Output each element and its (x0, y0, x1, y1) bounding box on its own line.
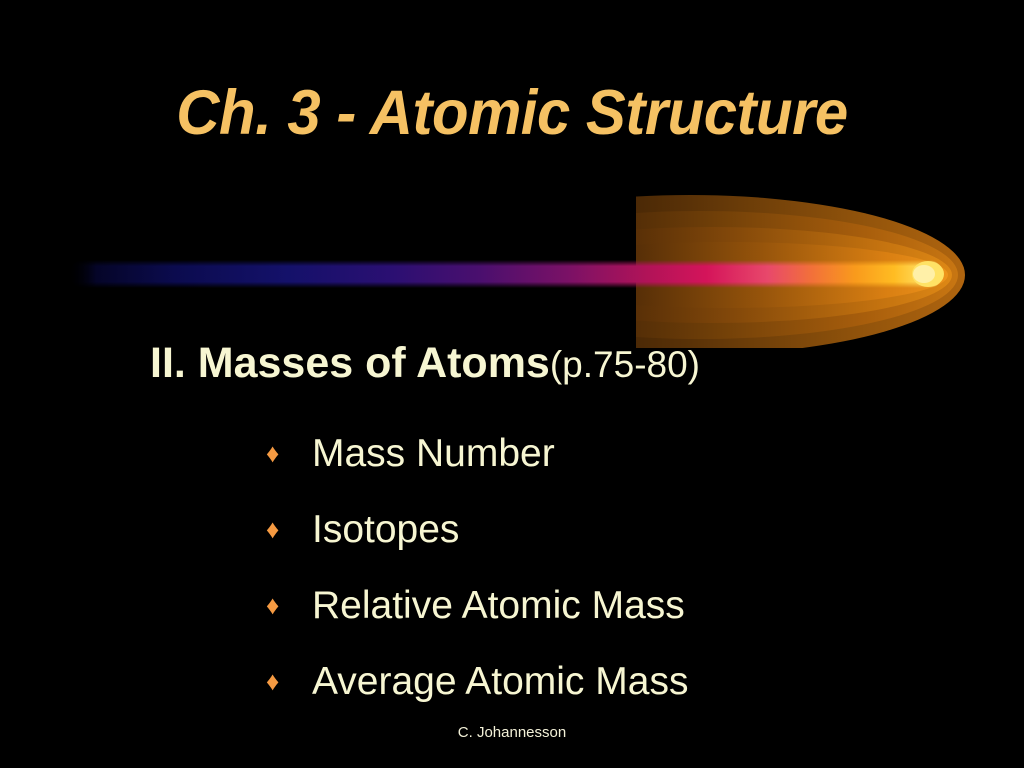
list-item: ♦ Isotopes (266, 492, 966, 568)
page-title: Ch. 3 - Atomic Structure (26, 82, 999, 145)
section-heading-main: II. Masses of Atoms (150, 339, 550, 387)
list-item: ♦ Mass Number (266, 416, 966, 492)
list-item-label: Average Atomic Mass (312, 660, 688, 704)
slide-footer-author: C. Johannesson (0, 724, 1024, 741)
list-item-label: Isotopes (312, 508, 459, 552)
diamond-bullet-icon: ♦ (266, 668, 300, 694)
list-item: ♦ Relative Atomic Mass (266, 568, 966, 644)
comet-core-beam (70, 260, 944, 288)
diamond-bullet-icon: ♦ (266, 592, 300, 618)
slide-canvas: Ch. 3 - Atomic Structure (0, 0, 1024, 768)
list-item-label: Mass Number (312, 432, 555, 476)
comet-shock-shells (415, 195, 965, 348)
diamond-bullet-icon: ♦ (266, 516, 300, 542)
list-item-label: Relative Atomic Mass (312, 584, 685, 628)
bullet-list: ♦ Mass Number ♦ Isotopes ♦ Relative Atom… (266, 416, 966, 720)
section-heading-pages: (p.75-80) (550, 344, 700, 385)
section-heading: II. Masses of Atoms(p.75-80) (150, 341, 700, 386)
comet-streak-graphic (0, 168, 1024, 348)
list-item: ♦ Average Atomic Mass (266, 644, 966, 720)
diamond-bullet-icon: ♦ (266, 440, 300, 466)
